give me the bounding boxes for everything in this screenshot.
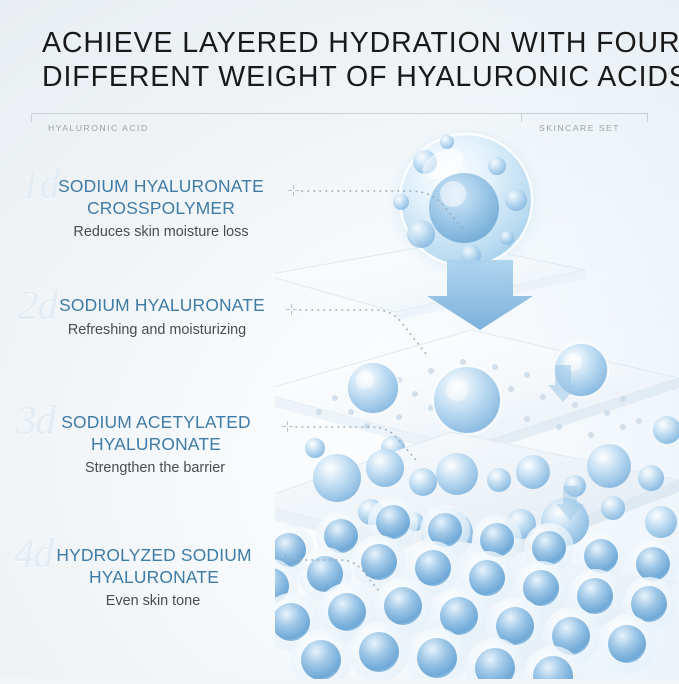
ingredient-item-3[interactable]: 3d SODIUM ACETYLATED HYALURONATE Strengt… — [0, 412, 300, 478]
rule-bar — [31, 113, 648, 114]
ingredient-desc-1: Reduces skin moisture loss — [0, 222, 300, 242]
layers-svg — [275, 130, 679, 679]
ingredient-item-1[interactable]: 1d SODIUM HYALURONATE CROSSPOLYMER Reduc… — [0, 176, 300, 242]
large-hyaluronic-sphere — [393, 132, 539, 272]
ingredient-desc-3: Strengthen the barrier — [0, 458, 300, 478]
ingredient-desc-4: Even skin tone — [0, 591, 300, 611]
section-rule: HYALURONIC ACID SKINCARE SET — [31, 113, 648, 139]
ingredient-index-1: 1d — [20, 164, 59, 205]
rule-tick-mid — [521, 113, 522, 122]
rule-tick-right — [647, 113, 648, 122]
hyaluronic-layer-illustration — [275, 130, 679, 679]
rule-label-left: HYALURONIC ACID — [48, 123, 149, 133]
title-line-2: DIFFERENT WEIGHT OF HYALURONIC ACIDS — [42, 60, 642, 94]
ingredient-index-4: 4d — [14, 533, 53, 574]
page-title: ACHIEVE LAYERED HYDRATION WITH FOUR DIFF… — [42, 26, 642, 94]
ingredient-item-2[interactable]: 2d SODIUM HYALURONATE Refreshing and moi… — [0, 295, 300, 340]
rule-tick-left — [31, 113, 32, 122]
title-line-1: ACHIEVE LAYERED HYDRATION WITH FOUR — [42, 26, 642, 60]
ingredient-index-3: 3d — [16, 400, 55, 441]
ingredient-item-4[interactable]: 4d HYDROLYZED SODIUM HYALURONATE Even sk… — [0, 545, 300, 611]
ingredient-index-2: 2d — [18, 285, 57, 326]
rule-label-right: SKINCARE SET — [539, 123, 620, 133]
